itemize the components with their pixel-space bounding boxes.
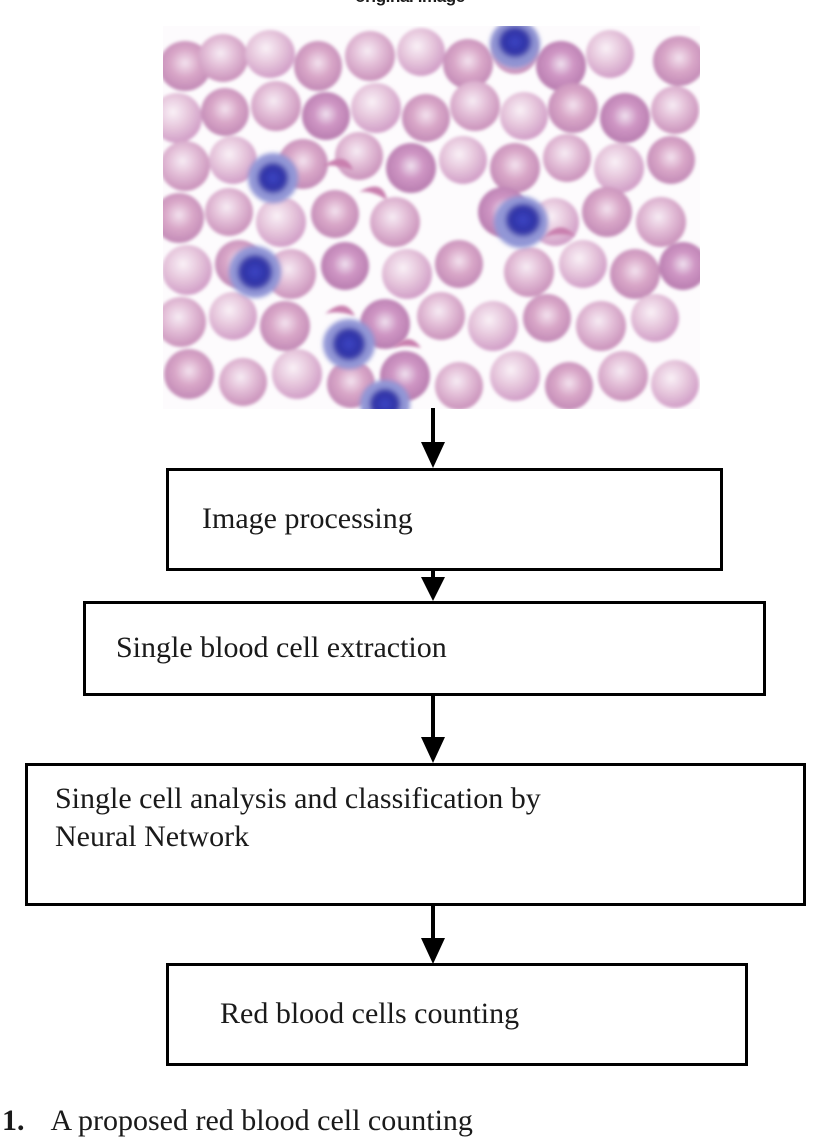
arrow-shaft [431,408,435,444]
flow-step-label: Red blood cells counting [169,995,519,1033]
arrow-head [421,442,445,468]
flow-step-cell-extraction[interactable]: Single blood cell extraction [83,601,766,696]
flow-step-label: Single cell analysis and classification … [28,766,541,857]
arrow-down-to-image-processing [418,408,448,468]
figure-caption: 1.A proposed red blood cell counting [0,1104,820,1137]
arrow-shaft [431,696,435,738]
arrow-down-to-cell-analysis [418,696,448,763]
flow-step-cell-analysis[interactable]: Single cell analysis and classification … [25,763,806,906]
arrow-down-to-rbc-counting [418,906,448,963]
flow-step-label: Single blood cell extraction [86,629,447,667]
flow-step-rbc-counting[interactable]: Red blood cells counting [166,963,748,1066]
flow-step-image-processing[interactable]: Image processing [166,468,723,571]
arrow-down-to-cell-extraction [418,571,448,601]
arrow-head [421,938,445,964]
figure-caption-text: A proposed red blood cell counting [25,1104,473,1137]
arrow-shaft [431,906,435,939]
blood-smear-micrograph [163,26,700,409]
original-image-label: original image [0,0,820,7]
figure-number: 1. [0,1104,25,1137]
arrow-head [421,737,445,763]
flow-step-label: Image processing [169,500,413,538]
arrow-head [421,577,445,601]
